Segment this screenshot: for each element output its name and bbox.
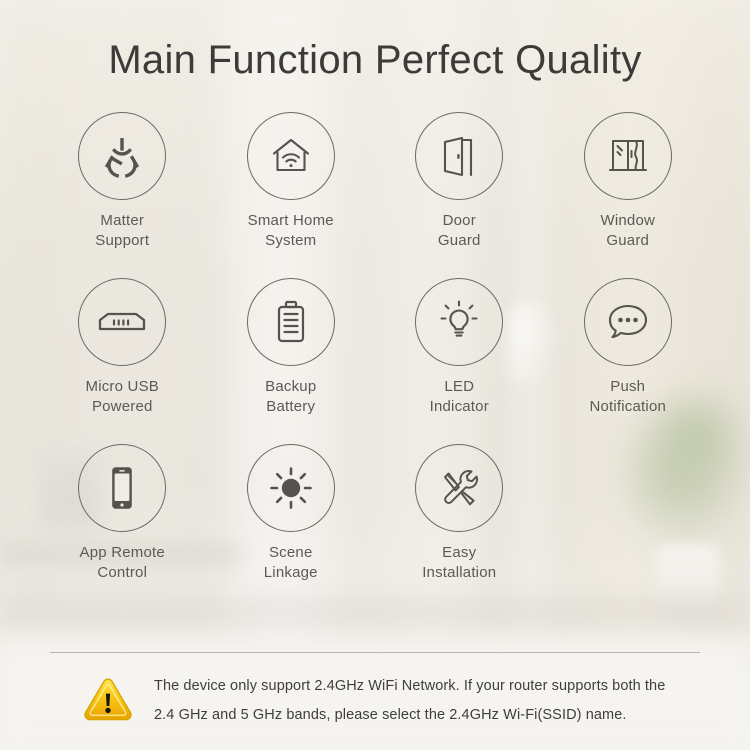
matter-logo-icon xyxy=(78,112,166,200)
feature-label: LED Indicator xyxy=(430,377,489,417)
speech-bubble-icon xyxy=(584,278,672,366)
window-curtain-icon xyxy=(584,112,672,200)
feature-item-scene-linkage: Scene Linkage xyxy=(207,444,376,583)
wifi-warning-text: The device only support 2.4GHz WiFi Netw… xyxy=(154,672,665,730)
feature-label: Scene Linkage xyxy=(264,543,318,583)
feature-item-window-guard: Window Guard xyxy=(544,112,713,251)
wifi-warning-line-1: The device only support 2.4GHz WiFi Netw… xyxy=(154,672,665,701)
feature-item-easy-installation: Easy Installation xyxy=(375,444,544,583)
feature-label: Micro USB Powered xyxy=(86,377,159,417)
feature-item-door-guard: Door Guard xyxy=(375,112,544,251)
feature-row: Matter Support Smart Home System xyxy=(38,112,712,251)
light-bulb-icon xyxy=(415,278,503,366)
warning-triangle-icon xyxy=(82,675,134,728)
feature-row: App Remote Control xyxy=(38,444,712,583)
feature-item-smart-home-system: Smart Home System xyxy=(207,112,376,251)
feature-label: Smart Home System xyxy=(248,211,334,251)
feature-item-empty xyxy=(544,444,713,583)
feature-item-led-indicator: LED Indicator xyxy=(375,278,544,417)
feature-item-micro-usb-powered: Micro USB Powered xyxy=(38,278,207,417)
sun-icon xyxy=(247,444,335,532)
smart-home-wifi-icon xyxy=(247,112,335,200)
feature-item-matter-support: Matter Support xyxy=(38,112,207,251)
wifi-warning-line-2: 2.4 GHz and 5 GHz bands, please select t… xyxy=(154,701,665,730)
footer-divider xyxy=(50,652,700,653)
page-title: Main Function Perfect Quality xyxy=(0,38,750,83)
battery-icon xyxy=(247,278,335,366)
feature-label: Door Guard xyxy=(438,211,481,251)
micro-usb-port-icon xyxy=(78,278,166,366)
feature-row: Micro USB Powered Backup Battery xyxy=(38,278,712,417)
tools-icon xyxy=(415,444,503,532)
feature-item-backup-battery: Backup Battery xyxy=(207,278,376,417)
feature-item-push-notification: Push Notification xyxy=(544,278,713,417)
open-door-icon xyxy=(415,112,503,200)
feature-label: App Remote Control xyxy=(80,543,165,583)
feature-item-app-remote-control: App Remote Control xyxy=(38,444,207,583)
feature-label: Window Guard xyxy=(600,211,655,251)
feature-label: Easy Installation xyxy=(422,543,496,583)
feature-grid: Matter Support Smart Home System xyxy=(38,112,712,583)
product-feature-banner: Main Function Perfect Quality xyxy=(0,0,750,750)
smartphone-icon xyxy=(78,444,166,532)
wifi-warning-note: The device only support 2.4GHz WiFi Netw… xyxy=(82,672,702,730)
feature-label: Push Notification xyxy=(589,377,666,417)
feature-label: Backup Battery xyxy=(265,377,316,417)
feature-label: Matter Support xyxy=(95,211,149,251)
